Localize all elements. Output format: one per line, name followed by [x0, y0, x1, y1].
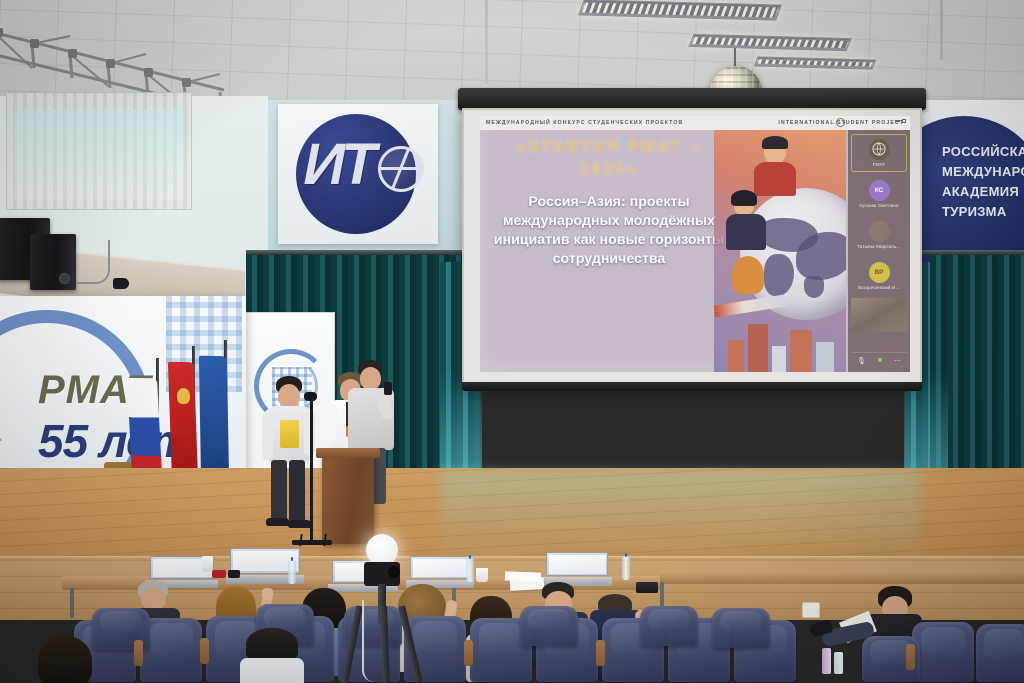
- slide-header-bar: МЕЖДУНАРОДНЫЙ КОНКУРС СТУДЕНЧЕСКИХ ПРОЕК…: [480, 116, 910, 130]
- projector-screen-housing: [458, 88, 926, 110]
- laptop-screen: [546, 552, 608, 576]
- conference-toolbar: 🎙 ■ ⋯: [851, 352, 907, 368]
- banner-text: РОССИЙСКАЯ МЕЖДУНАРОДНАЯ АКАДЕМИЯ ТУРИЗМ…: [942, 142, 1024, 223]
- seat-armrest: [200, 638, 209, 664]
- projector-screen: МЕЖДУНАРОДНЫЙ КОНКУРС СТУДЕНЧЕСКИХ ПРОЕК…: [462, 108, 922, 386]
- presenter-shoe: [288, 520, 312, 528]
- podium-top: [316, 448, 380, 458]
- slide-title: «STARTUP РМАТ – 2025»: [488, 136, 730, 181]
- participant-tile-0[interactable]: РМАТ: [851, 134, 907, 172]
- wall-socket: [802, 602, 820, 618]
- flag-red: [168, 362, 198, 482]
- continent-africa: [764, 254, 794, 296]
- water-bottle: [466, 558, 474, 582]
- presenter-legs: [271, 460, 287, 520]
- microphone-icon[interactable]: 🎙: [857, 357, 866, 365]
- building: [728, 340, 744, 372]
- presenter-arm: [326, 404, 337, 444]
- loudspeaker: [30, 234, 76, 290]
- student-hijab-3: [732, 256, 764, 294]
- participant-name: Татьяна Кварталь…: [857, 244, 900, 249]
- student-hair-1: [762, 136, 788, 149]
- banner-title-years: 55 лет: [38, 414, 190, 468]
- presenter-head: [360, 367, 381, 390]
- laptop[interactable]: [546, 552, 608, 586]
- person-shirt: [240, 658, 304, 683]
- seat-armrest: [134, 640, 143, 666]
- projector-device: [636, 582, 658, 593]
- paper-cup: [202, 556, 213, 572]
- camera-icon[interactable]: ■: [878, 357, 882, 364]
- participant-avatar: [869, 139, 890, 160]
- participant-avatar: [869, 221, 890, 242]
- participant-avatar: ВР: [869, 262, 890, 283]
- person-hair: [246, 628, 298, 662]
- building: [816, 342, 834, 372]
- participant-name: РМАТ: [873, 162, 885, 167]
- student-hair-2: [731, 190, 757, 206]
- person-hand: [262, 588, 273, 600]
- smiley-icon[interactable]: [836, 118, 845, 127]
- student-body-2: [726, 214, 766, 250]
- table-leg: [70, 588, 74, 618]
- slide-illustration: [714, 130, 846, 372]
- disco-ball-rod: [734, 48, 736, 68]
- water-bottle: [622, 556, 630, 580]
- person-head: [141, 588, 166, 610]
- presenter-shoe: [266, 518, 290, 526]
- documents-stack: [505, 571, 541, 581]
- presenter-legs: [289, 460, 305, 522]
- minimize-icon[interactable]: [895, 120, 900, 122]
- smartphone[interactable]: [384, 382, 392, 395]
- banner-line-3: АКАДЕМИЯ: [942, 182, 1024, 202]
- laptop-screen: [410, 556, 470, 579]
- microphone-stand-pole: [310, 398, 313, 544]
- camera-lens: [388, 566, 400, 578]
- wall-camera: [113, 278, 129, 289]
- participant-name: Воскресенский И…: [858, 285, 900, 290]
- window-daylight: [14, 110, 184, 200]
- auditorium-seat[interactable]: [520, 606, 578, 646]
- maximize-icon[interactable]: [902, 119, 906, 123]
- lighting-truss: [0, 24, 232, 100]
- table-leg: [660, 582, 664, 608]
- jury-table-right: [660, 570, 1024, 584]
- ceiling-pipe: [940, 0, 943, 60]
- tripod-cable: [362, 600, 376, 682]
- speaking-podium: [322, 452, 374, 544]
- presentation-slide: МЕЖДУНАРОДНЫЙ КОНКУРС СТУДЕНЧЕСКИХ ПРОЕК…: [480, 116, 910, 372]
- flag-blue: [199, 356, 229, 482]
- stationery-box: [228, 570, 240, 578]
- auditorium-seat[interactable]: [912, 622, 974, 682]
- auditorium-seat[interactable]: [976, 624, 1024, 682]
- flag-emblem: [177, 388, 190, 404]
- student-body-1: [754, 162, 796, 196]
- speaker-cable: [76, 240, 110, 284]
- seat-armrest: [906, 644, 915, 670]
- video-conference-panel: РМАТ КС Кускова Светлана Татьяна Квартал…: [848, 130, 910, 372]
- more-options-icon[interactable]: ⋯: [894, 357, 901, 365]
- bottles-on-floor: [834, 652, 843, 674]
- building: [790, 330, 812, 372]
- logo-globe-icon: [378, 146, 424, 192]
- building: [748, 324, 768, 372]
- paper-cup: [476, 568, 488, 582]
- banner-line-1: РОССИЙСКАЯ: [942, 142, 1024, 162]
- building: [772, 346, 786, 372]
- slide-header-left: МЕЖДУНАРОДНЫЙ КОНКУРС СТУДЕНЧЕСКИХ ПРОЕК…: [486, 120, 683, 126]
- city-skyline-graphic: [722, 310, 846, 372]
- stationery-box: [212, 570, 226, 578]
- seat-armrest: [596, 640, 605, 666]
- continent-india: [804, 276, 824, 298]
- water-bottle: [288, 560, 296, 584]
- window-controls[interactable]: [895, 119, 906, 123]
- presenter-head: [278, 384, 300, 408]
- auditorium-seat[interactable]: [712, 608, 770, 648]
- institution-logo-banner: ИТ: [278, 104, 438, 244]
- person-hair: [38, 636, 92, 683]
- slide-subtitle: Россия–Азия: проекты международных молод…: [488, 193, 730, 269]
- microphone-head: [304, 392, 317, 401]
- projector-screen-bottom-bar: [462, 382, 922, 391]
- bottles-on-floor: [822, 648, 831, 674]
- slide-text-area: «STARTUP РМАТ – 2025» Россия–Азия: проек…: [480, 116, 738, 372]
- banner-line-2: МЕЖДУНАРОДНАЯ: [942, 162, 1024, 182]
- tshirt-print: [280, 420, 299, 448]
- presenter-arm: [262, 412, 273, 460]
- stage-light-reflection: [440, 470, 920, 565]
- ceiling-pipe: [485, 0, 488, 84]
- microphone-tripod-base: [299, 534, 326, 546]
- participant-avatar: КС: [869, 180, 890, 201]
- conference-hall-photo: ИТ РОССИЙСКАЯ МЕЖДУНАРОДНАЯ АКАДЕМИЯ ТУР…: [0, 0, 1024, 683]
- banner-line-4: ТУРИЗМА: [942, 202, 1024, 222]
- participant-tile-3[interactable]: ВР Воскресенский И…: [851, 257, 907, 295]
- participant-name: Кускова Светлана: [859, 203, 898, 208]
- auditorium-seat[interactable]: [640, 606, 698, 646]
- participant-video-thumbnail[interactable]: [851, 298, 907, 332]
- participant-tile-1[interactable]: КС Кускова Светлана: [851, 175, 907, 213]
- participant-tile-2[interactable]: Татьяна Кварталь…: [851, 216, 907, 254]
- seat-armrest: [464, 640, 473, 666]
